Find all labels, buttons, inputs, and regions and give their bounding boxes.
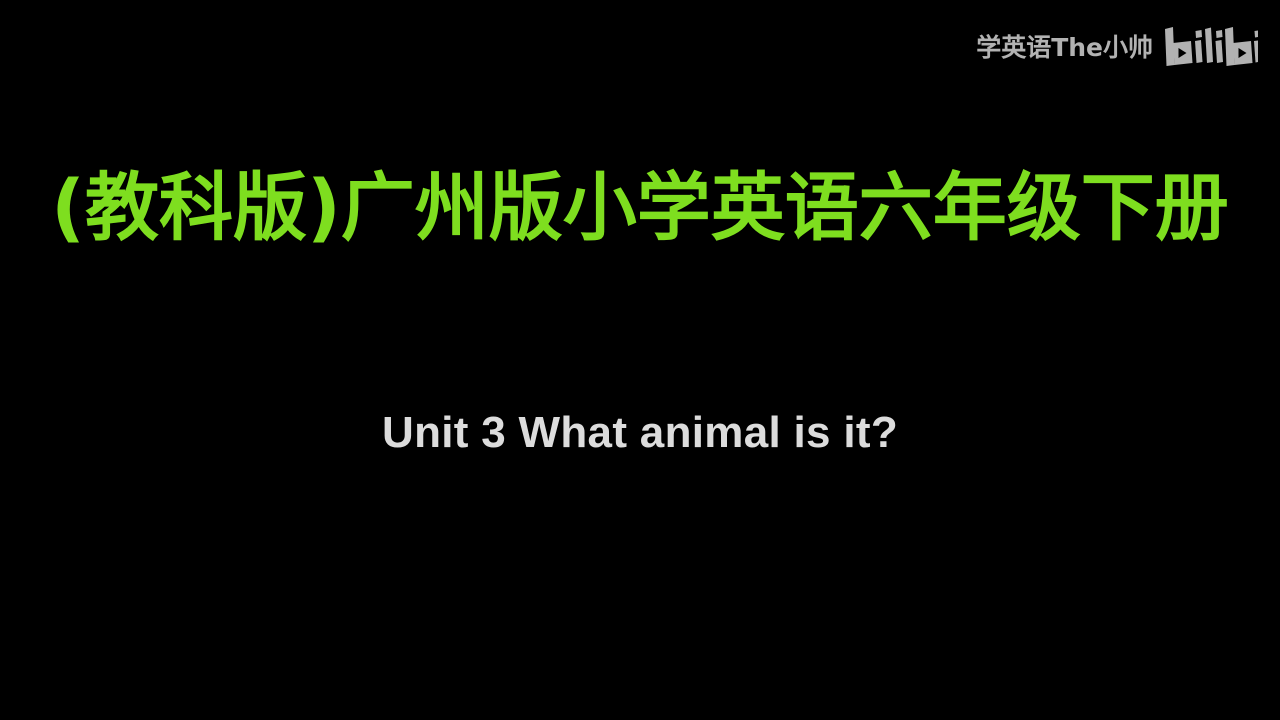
page-subtitle: Unit 3 What animal is it? (382, 408, 898, 459)
bilibili-logo-icon (1162, 26, 1258, 68)
page-title: (教科版)广州版小学英语六年级下册 (51, 168, 1229, 249)
watermark: 学英语The小帅 (976, 26, 1258, 68)
watermark-channel-name: 学英语The小帅 (976, 35, 1153, 60)
subtitle-container: Unit 3 What animal is it? (0, 408, 1280, 459)
title-container: (教科版)广州版小学英语六年级下册 (0, 168, 1280, 249)
slide-canvas: 学英语The小帅 (0, 0, 1280, 720)
